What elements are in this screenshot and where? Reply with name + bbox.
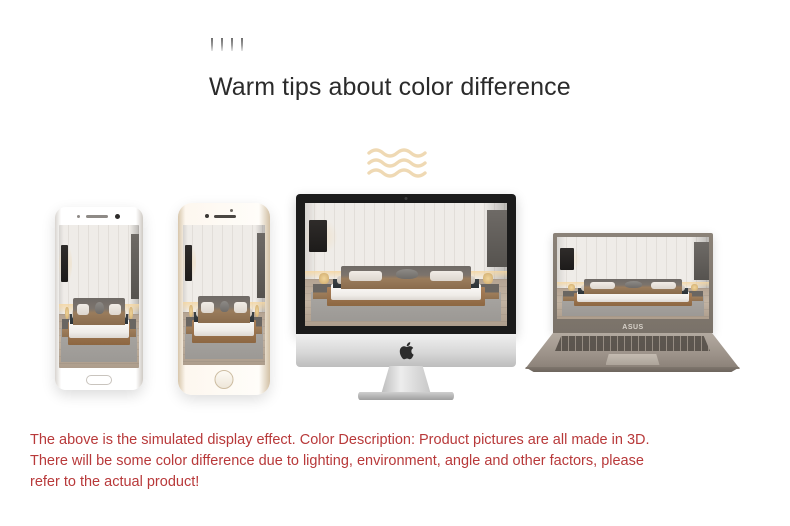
laptop-screen-content [557,237,709,319]
front-camera-icon [77,215,80,218]
phone-screen-content [59,225,139,368]
apple-logo-icon [399,342,414,360]
disclaimer-line-1: The above is the simulated display effec… [30,430,765,451]
front-camera-icon [205,214,209,218]
laptop-keyboard[interactable] [555,336,710,351]
disclaimer-line-3: refer to the actual product! [30,472,765,493]
laptop-lid: ASUS [553,233,713,333]
tick-mark-icon [231,38,233,51]
tick-marks-decoration [211,38,243,51]
color-disclaimer-note: The above is the simulated display effec… [30,430,765,493]
laptop-trackpad[interactable] [606,354,660,365]
imac-chin [296,334,516,367]
tick-mark-icon [241,38,243,51]
disclaimer-line-2: There will be some color difference due … [30,451,765,472]
tick-mark-icon [221,38,223,51]
device-phone-iphone [178,203,270,395]
earpiece-speaker-icon [86,215,108,218]
phone-screen-content [183,225,265,365]
device-imac [296,194,516,399]
asus-brand-label: ASUS [622,324,643,331]
facetime-camera-icon [405,197,408,200]
device-showcase: ASUS [0,185,790,400]
imac-stand-base [358,392,454,400]
imac-bezel [296,194,516,334]
earpiece-speaker-icon [214,215,236,218]
promo-banner: Warm tips about color difference [0,0,790,526]
laptop-front-edge [525,367,740,372]
proximity-sensor-icon [230,209,233,212]
proximity-sensor-icon [115,214,120,219]
tick-mark-icon [211,38,213,51]
home-button[interactable] [215,370,234,389]
wave-lines-icon [367,146,427,180]
device-laptop-asus: ASUS [525,233,740,373]
page-title: Warm tips about color difference [209,73,571,102]
device-phone-android [55,207,143,390]
imac-screen-content [305,203,507,326]
home-bar-button[interactable] [86,375,112,385]
